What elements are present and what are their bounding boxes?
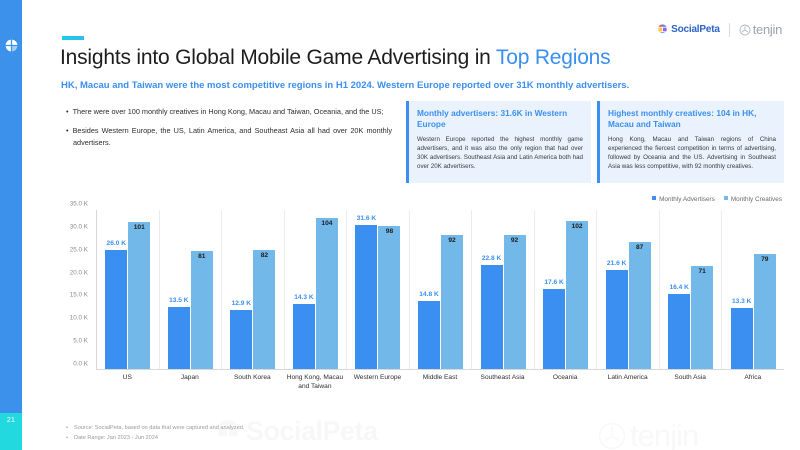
legend-swatch-icon bbox=[652, 196, 656, 200]
bar-monthly-advertisers[interactable]: 21.6 K bbox=[606, 270, 628, 369]
bar-monthly-creatives[interactable]: 92 bbox=[441, 235, 463, 369]
bar-group: 22.8 K92 bbox=[472, 210, 535, 369]
bar-group: 14.8 K92 bbox=[410, 210, 473, 369]
socialpeta-logo: SocialPeta bbox=[657, 24, 720, 35]
bar-monthly-advertisers[interactable]: 12.9 K bbox=[230, 310, 252, 369]
bar-monthly-advertisers[interactable]: 17.6 K bbox=[543, 289, 565, 369]
bar-value-label: 16.4 K bbox=[669, 284, 688, 291]
bar-monthly-creatives[interactable]: 98 bbox=[378, 226, 400, 369]
bar-chart: Monthly Advertisers Monthly Creatives 0.… bbox=[44, 196, 786, 396]
bar-group: 14.3 K104 bbox=[285, 210, 348, 369]
bar-value-label: 104 bbox=[321, 220, 332, 227]
socialpeta-mark-icon bbox=[657, 24, 668, 35]
y-axis-tick-label: 25.0 K bbox=[70, 246, 88, 253]
socialpeta-watermark-text: SocialPeta bbox=[246, 416, 378, 447]
bar-value-label: 102 bbox=[572, 223, 583, 230]
bullet-item: Besides Western Europe, the US, Latin Am… bbox=[62, 125, 392, 148]
bar-group: 31.6 K98 bbox=[347, 210, 410, 369]
y-axis-tick-label: 30.0 K bbox=[70, 223, 88, 230]
tenjin-watermark: tenjin bbox=[597, 418, 698, 450]
tenjin-mark-icon bbox=[739, 24, 751, 36]
bar-monthly-creatives[interactable]: 71 bbox=[691, 266, 713, 369]
x-axis-tick-label: Japan bbox=[159, 374, 222, 392]
x-axis-tick-label: South Korea bbox=[221, 374, 284, 392]
bar-monthly-advertisers[interactable]: 14.3 K bbox=[293, 304, 315, 369]
bar-monthly-advertisers[interactable]: 14.8 K bbox=[418, 301, 440, 369]
legend-label: Monthly Creatives bbox=[731, 196, 782, 203]
y-axis-tick-label: 0.0 K bbox=[73, 361, 88, 368]
bar-monthly-creatives[interactable]: 92 bbox=[504, 235, 526, 369]
callout-card-creatives: Highest monthly creatives: 104 in HK, Ma… bbox=[597, 101, 784, 183]
bar-value-label: 13.3 K bbox=[732, 298, 751, 305]
bar-monthly-creatives[interactable]: 79 bbox=[754, 254, 776, 369]
pie-quadrant-icon bbox=[4, 38, 19, 53]
bar-monthly-advertisers[interactable]: 26.0 K bbox=[105, 250, 127, 369]
x-axis-tick-label: Africa bbox=[721, 374, 784, 392]
bar-value-label: 92 bbox=[448, 237, 455, 244]
tenjin-watermark-icon bbox=[597, 421, 627, 450]
bullet-item: There were over 100 monthly creatives in… bbox=[62, 106, 392, 117]
bar-monthly-advertisers[interactable]: 13.3 K bbox=[731, 308, 753, 369]
bar-value-label: 14.3 K bbox=[294, 294, 313, 301]
tenjin-logo: tenjin bbox=[739, 22, 782, 37]
callout-body: Hong Kong, Macau and Taiwan regions of C… bbox=[608, 135, 776, 172]
socialpeta-logo-text: SocialPeta bbox=[671, 24, 720, 35]
bar-monthly-advertisers[interactable]: 16.4 K bbox=[668, 294, 690, 369]
bar-value-label: 98 bbox=[386, 228, 393, 235]
page-subtitle: HK, Macau and Taiwan were the most compe… bbox=[61, 80, 629, 91]
legend-item-creatives: Monthly Creatives bbox=[724, 196, 782, 203]
left-rail bbox=[0, 0, 22, 450]
bar-value-label: 12.9 K bbox=[232, 300, 251, 307]
bar-value-label: 21.6 K bbox=[607, 260, 626, 267]
bar-group: 16.4 K71 bbox=[660, 210, 723, 369]
y-axis-tick-label: 10.0 K bbox=[70, 315, 88, 322]
bar-monthly-creatives[interactable]: 101 bbox=[128, 222, 150, 369]
bar-monthly-creatives[interactable]: 82 bbox=[253, 250, 275, 369]
y-axis-tick-label: 35.0 K bbox=[70, 201, 88, 208]
x-axis-tick-label: US bbox=[96, 374, 159, 392]
x-axis-tick-label: Western Europe bbox=[346, 374, 409, 392]
legend-swatch-icon bbox=[724, 196, 728, 200]
bar-value-label: 87 bbox=[636, 244, 643, 251]
slide: 21 Insights into Global Mobile Game Adve… bbox=[0, 0, 800, 450]
x-axis-tick-label: Hong Kong, Macau and Taiwan bbox=[284, 374, 347, 392]
x-axis-tick-label: Middle East bbox=[409, 374, 472, 392]
x-axis-tick-label: Latin America bbox=[596, 374, 659, 392]
bar-monthly-creatives[interactable]: 87 bbox=[629, 242, 651, 369]
bar-group: 13.5 K81 bbox=[160, 210, 223, 369]
bar-value-label: 31.6 K bbox=[357, 215, 376, 222]
footer-note: Source: SocialPeta, based on data that w… bbox=[66, 424, 244, 434]
bar-monthly-creatives[interactable]: 104 bbox=[316, 218, 338, 369]
bar-monthly-advertisers[interactable]: 31.6 K bbox=[355, 225, 377, 369]
callout-heading: Monthly advertisers: 31.6K in Western Eu… bbox=[417, 108, 583, 130]
x-axis-tick-label: South Asia bbox=[659, 374, 722, 392]
bar-value-label: 101 bbox=[134, 224, 145, 231]
bar-group: 21.6 K87 bbox=[597, 210, 660, 369]
callout-card-advertisers: Monthly advertisers: 31.6K in Western Eu… bbox=[406, 101, 591, 183]
bar-group: 13.3 K79 bbox=[722, 210, 784, 369]
bar-group: 26.0 K101 bbox=[97, 210, 160, 369]
chart-legend: Monthly Advertisers Monthly Creatives bbox=[652, 196, 782, 203]
bar-value-label: 92 bbox=[511, 237, 518, 244]
bar-value-label: 79 bbox=[761, 256, 768, 263]
bar-monthly-creatives[interactable]: 81 bbox=[191, 251, 213, 369]
legend-label: Monthly Advertisers bbox=[659, 196, 715, 203]
bar-group: 12.9 K82 bbox=[222, 210, 285, 369]
bar-value-label: 22.8 K bbox=[482, 255, 501, 262]
bar-group: 17.6 K102 bbox=[535, 210, 598, 369]
page-title-highlight: Top Regions bbox=[496, 46, 611, 69]
bar-value-label: 71 bbox=[699, 268, 706, 275]
bar-value-label: 82 bbox=[261, 252, 268, 259]
x-axis-tick-label: Oceania bbox=[534, 374, 597, 392]
y-axis-tick-label: 5.0 K bbox=[73, 338, 88, 345]
y-axis-tick-label: 15.0 K bbox=[70, 292, 88, 299]
callout-body: Western Europe reported the highest mont… bbox=[417, 135, 583, 172]
y-axis-tick-label: 20.0 K bbox=[70, 269, 88, 276]
bar-value-label: 14.8 K bbox=[419, 291, 438, 298]
bar-value-label: 13.5 K bbox=[169, 297, 188, 304]
page-title-main: Insights into Global Mobile Game Adverti… bbox=[60, 46, 496, 69]
footer-notes: Source: SocialPeta, based on data that w… bbox=[66, 424, 244, 444]
bar-monthly-creatives[interactable]: 102 bbox=[566, 221, 588, 369]
brand-divider bbox=[729, 23, 730, 37]
callout-heading: Highest monthly creatives: 104 in HK, Ma… bbox=[608, 108, 776, 130]
accent-bar bbox=[62, 36, 84, 40]
x-axis-labels: USJapanSouth KoreaHong Kong, Macau and T… bbox=[96, 374, 784, 392]
bullet-list: There were over 100 monthly creatives in… bbox=[62, 106, 392, 156]
bar-monthly-advertisers[interactable]: 22.8 K bbox=[481, 265, 503, 369]
brand-logos: SocialPeta tenjin bbox=[657, 22, 782, 37]
y-axis-labels: 0.0 K5.0 K10.0 K15.0 K20.0 K25.0 K30.0 K… bbox=[44, 204, 92, 364]
page-title: Insights into Global Mobile Game Adverti… bbox=[60, 46, 610, 70]
tenjin-logo-text: tenjin bbox=[753, 22, 782, 37]
x-axis-tick-label: Southeast Asia bbox=[471, 374, 534, 392]
legend-item-advertisers: Monthly Advertisers bbox=[652, 196, 715, 203]
bar-value-label: 81 bbox=[198, 253, 205, 260]
plot-area: SocialPeta tenjin 26.0 K10113.5 K8112.9 … bbox=[96, 210, 784, 370]
bar-monthly-advertisers[interactable]: 13.5 K bbox=[168, 307, 190, 369]
bar-groups: 26.0 K10113.5 K8112.9 K8214.3 K10431.6 K… bbox=[97, 210, 784, 369]
bar-value-label: 17.6 K bbox=[544, 279, 563, 286]
page-number: 21 bbox=[0, 413, 22, 450]
bar-value-label: 26.0 K bbox=[107, 240, 126, 247]
tenjin-watermark-text: tenjin bbox=[630, 418, 698, 450]
footer-note: Date Range: Jan 2023 - Jun 2024 bbox=[66, 434, 244, 444]
